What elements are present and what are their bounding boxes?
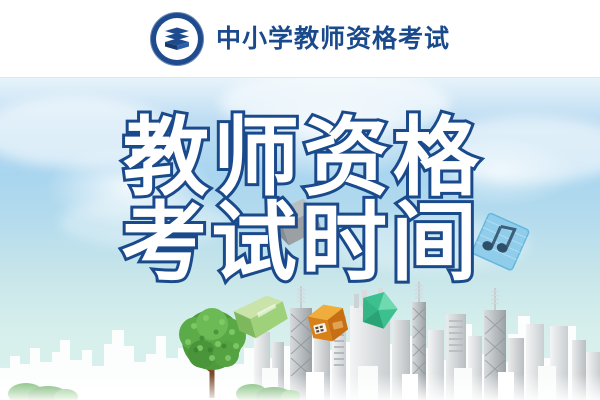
site-title: 中小学教师资格考试 — [216, 26, 450, 51]
music-note-tile-icon — [470, 212, 532, 274]
site-header: 中小学教师资格考试 — [0, 0, 600, 78]
open-book-icon — [164, 27, 190, 51]
gray-card-tile-icon — [268, 196, 324, 248]
green-card-tile-icon — [232, 292, 290, 340]
poster-banner: 中小学教师资格考试 — [0, 0, 600, 400]
bush-icon — [8, 374, 78, 400]
green-gem-tile-icon — [355, 288, 401, 334]
book-emblem-logo-icon — [150, 12, 204, 66]
city-skyline-detailed — [250, 280, 600, 400]
cloud-icon — [0, 97, 170, 167]
orange-calculator-box-icon — [305, 300, 351, 346]
cloud-icon — [430, 117, 600, 183]
cloud-icon — [220, 71, 450, 135]
cloud-icon — [60, 197, 230, 247]
header-brand[interactable]: 中小学教师资格考试 — [150, 12, 450, 66]
